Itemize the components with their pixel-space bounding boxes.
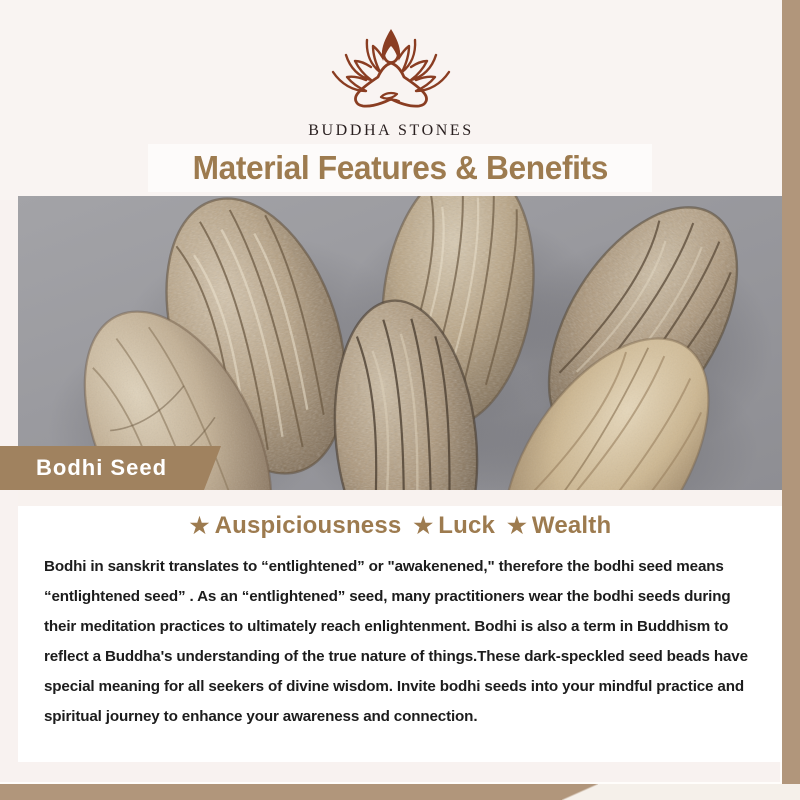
benefit-luck: Luck [438,512,495,539]
hero-caption-label: Bodhi Seed [36,455,167,481]
decorative-frame: BUDDHA STONES Material Features & Benefi… [0,0,800,800]
page-title: Material Features & Benefits [192,149,607,187]
benefit-wealth: Wealth [532,512,611,539]
lotus-meditation-icon [325,22,457,118]
benefits-headline: ★Auspiciousness ★Luck ★Wealth [18,512,782,540]
frame-bottom-right-fill [596,784,800,800]
description-paragraph: Bodhi in sanskrit translates to “entligh… [44,552,758,732]
star-icon-1: ★ [190,513,210,538]
title-band: Material Features & Benefits [148,144,652,192]
star-icon-2: ★ [413,513,433,538]
brand-name: BUDDHA STONES [0,122,782,140]
hero-caption-banner: Bodhi Seed [0,446,204,490]
content-panel: ★Auspiciousness ★Luck ★Wealth Bodhi in s… [18,490,782,762]
content-top-divider [18,490,782,506]
header: BUDDHA STONES Material Features & Benefi… [0,0,782,200]
brand-logo: BUDDHA STONES [0,22,782,140]
frame-bottom-diagonal-notch [562,784,598,800]
star-icon-3: ★ [507,513,527,538]
benefit-auspiciousness: Auspiciousness [215,512,402,539]
